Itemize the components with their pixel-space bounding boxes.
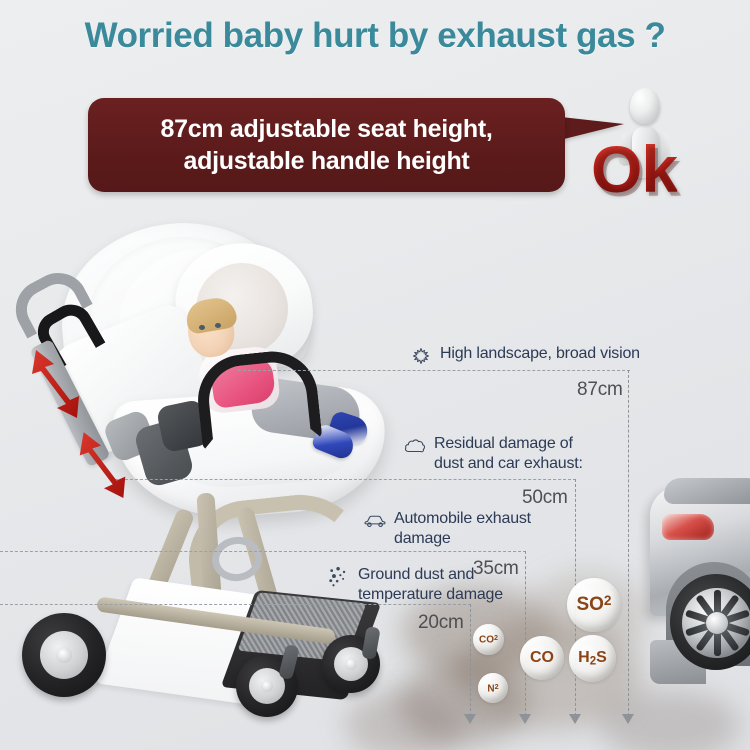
product-infographic: Worried baby hurt by exhaust gas ? — [0, 0, 750, 750]
gas-bubble-label: H2S — [578, 649, 607, 668]
baby-eye — [199, 325, 205, 330]
measure-line-20cm-vertical — [470, 604, 471, 716]
dust-particles-icon — [328, 566, 350, 588]
annotation-ground-dust: Ground dust and temperature damage — [328, 565, 503, 605]
gas-bubble-co: CO — [520, 636, 564, 680]
measure-line-35cm-horizontal — [0, 551, 526, 552]
annotation-residual-damage: Residual damage of dust and car exhaust: — [404, 434, 583, 474]
car-icon — [364, 510, 386, 532]
car-tail-light — [662, 514, 714, 540]
gas-bubble-label: SO2 — [576, 593, 611, 616]
gas-bubble-h2s: H2S — [569, 635, 616, 682]
cloud-icon — [404, 435, 426, 457]
annotation-high-landscape: High landscape, broad vision — [410, 344, 640, 367]
gas-bubble-co2: CO2 — [473, 624, 504, 655]
page-title: Worried baby hurt by exhaust gas ? — [0, 16, 750, 56]
gas-bubble-so2: SO2 — [567, 578, 621, 632]
annotation-label: Automobile exhaust damage — [394, 509, 531, 549]
ok-badge-text: Ok — [591, 136, 677, 202]
stroller-rear-wheel-cap — [56, 647, 72, 663]
seat-height-adjust-arrow — [72, 430, 134, 500]
annotation-label: High landscape, broad vision — [440, 344, 640, 364]
measurement-label-50cm: 50cm — [522, 487, 568, 509]
callout-box: 87cm adjustable seat height, adjustable … — [88, 98, 565, 192]
gas-bubble-n2: N2 — [478, 673, 508, 703]
gas-bubble-label: CO2 — [479, 633, 498, 646]
measure-line-87cm-horizontal — [238, 370, 630, 371]
measurement-label-87cm: 87cm — [577, 379, 623, 401]
stroller-illustration — [0, 215, 420, 715]
maple-leaf-icon — [410, 345, 432, 367]
measure-arrow-87cm — [622, 714, 634, 724]
annotation-label: Residual damage of dust and car exhaust: — [434, 434, 583, 474]
handle-height-adjust-arrow — [24, 348, 88, 420]
car-hubcap — [706, 612, 728, 634]
measure-line-50cm-horizontal — [110, 479, 576, 480]
car-illustration — [650, 470, 750, 750]
annotation-label: Ground dust and temperature damage — [358, 565, 503, 605]
mascot-head — [630, 88, 660, 124]
car-spoiler — [664, 478, 750, 504]
callout-line-2: adjustable handle height — [184, 145, 470, 177]
measurement-label-20cm: 20cm — [418, 612, 464, 634]
annotation-automobile-exhaust: Automobile exhaust damage — [364, 509, 531, 549]
stroller-front-wheel-cap — [261, 680, 273, 692]
gas-bubble-label: N2 — [487, 682, 498, 695]
measure-line-87cm-vertical — [628, 370, 629, 716]
measure-arrow-50cm — [569, 714, 581, 724]
gas-bubble-label: CO — [530, 649, 554, 667]
measure-line-35cm-vertical — [525, 551, 526, 716]
measure-arrow-35cm — [519, 714, 531, 724]
measure-arrow-20cm — [464, 714, 476, 724]
callout-line-1: 87cm adjustable seat height, — [161, 113, 493, 145]
stroller-front-wheel-cap — [345, 658, 357, 670]
baby-eye — [215, 323, 221, 328]
